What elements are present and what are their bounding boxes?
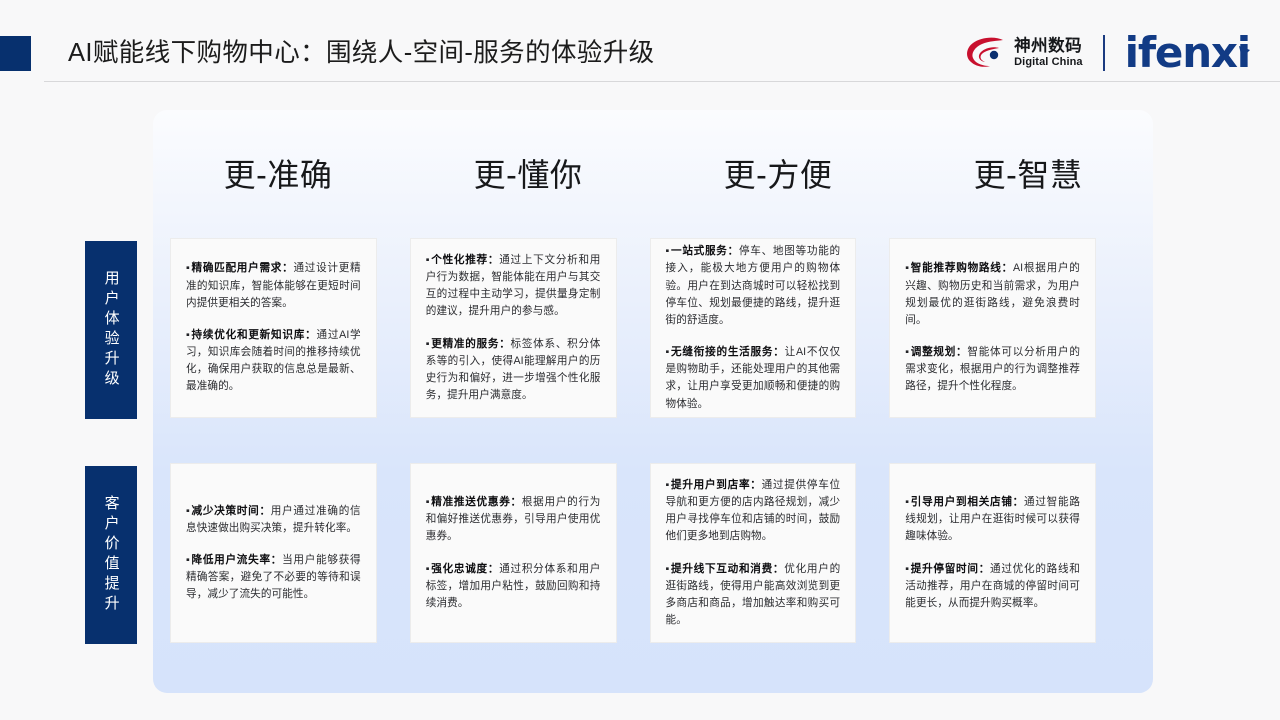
- digital-china-logo: 神州数码 Digital China: [965, 36, 1083, 70]
- logo-group: 神州数码 Digital China ifenxi: [965, 29, 1250, 77]
- bullet-lead: 降低用户流失率：: [192, 554, 283, 566]
- bullet-marker: ▪: [186, 262, 191, 274]
- card-r2c3: ▪提升用户到店率：通过提供停车位导航和更方便的店内路径规划，减少用户寻找停车位和…: [650, 463, 857, 643]
- bullet-lead: 强化忠诚度：: [431, 563, 499, 575]
- bullet-lead: 减少决策时间：: [192, 505, 271, 517]
- bullet-r1c3-2: ▪无缝衔接的生活服务：让AI不仅仅是购物助手，还能处理用户的其他需求，让用户享受…: [666, 344, 841, 413]
- bullet-r2c3-1: ▪提升用户到店率：通过提供停车位导航和更方便的店内路径规划，减少用户寻找停车位和…: [666, 477, 841, 546]
- bullet-r1c2-1: ▪个性化推荐：通过上下文分析和用户行为数据，智能体能在用户与其交互的过程中主动学…: [426, 252, 601, 321]
- bullet-r2c2-2: ▪强化忠诚度：通过积分体系和用户标签，增加用户粘性，鼓励回购和持续消费。: [426, 561, 601, 612]
- bullet-marker: ▪: [426, 496, 431, 508]
- bullet-r1c1-1: ▪精确匹配用户需求：通过设计更精准的知识库，智能体能够在更短时间内提供更相关的答…: [186, 260, 361, 311]
- bullet-lead: 持续优化和更新知识库：: [192, 329, 317, 341]
- bullet-r1c4-1: ▪智能推荐购物路线：AI根据用户的兴趣、购物历史和当前需求，为用户规划最优的逛街…: [905, 260, 1080, 329]
- column-heading-3: 更-方便: [653, 152, 903, 204]
- column-headings: 更-准确 更-懂你 更-方便 更-智慧: [153, 152, 1153, 204]
- bullet-marker: ▪: [186, 329, 191, 341]
- bullet-r2c4-2: ▪提升停留时间：通过优化的路线和活动推荐，用户在商城的停留时间可能更长，从而提升…: [905, 561, 1080, 612]
- row-tab-label-2: 客户价值提升: [102, 495, 119, 615]
- digital-china-name-en: Digital China: [1014, 57, 1083, 68]
- card-r1c2: ▪个性化推荐：通过上下文分析和用户行为数据，智能体能在用户与其交互的过程中主动学…: [410, 238, 617, 418]
- page-header: AI赋能线下购物中心：围绕人-空间-服务的体验升级 神州数码 Digital C…: [0, 0, 1280, 84]
- card-r1c3: ▪一站式服务：停车、地图等功能的接入，能极大地方便用户的购物体验。用户在到达商城…: [650, 238, 857, 418]
- bullet-marker: ▪: [666, 245, 671, 257]
- bullet-r2c1-1: ▪减少决策时间：用户通过准确的信息快速做出购买决策，提升转化率。: [186, 503, 361, 537]
- page-title: AI赋能线下购物中心：围绕人-空间-服务的体验升级: [68, 36, 655, 70]
- ifenxi-wordmark: ifenxi: [1125, 28, 1250, 77]
- card-r1c1: ▪精确匹配用户需求：通过设计更精准的知识库，智能体能够在更短时间内提供更相关的答…: [170, 238, 377, 418]
- card-r2c1: ▪减少决策时间：用户通过准确的信息快速做出购买决策，提升转化率。 ▪降低用户流失…: [170, 463, 377, 643]
- card-row-user-experience: ▪精确匹配用户需求：通过设计更精准的知识库，智能体能够在更短时间内提供更相关的答…: [170, 238, 1096, 418]
- ifenxi-arrow-icon: [1237, 26, 1252, 68]
- bullet-marker: ▪: [426, 563, 431, 575]
- logo-separator: [1103, 35, 1105, 71]
- bullet-marker: ▪: [905, 262, 910, 274]
- bullet-r1c4-2: ▪调整规划：智能体可以分析用户的需求变化，根据用户的行为调整推荐路径，提升个性化…: [905, 344, 1080, 395]
- bullet-lead: 调整规划：: [911, 346, 968, 358]
- column-heading-1: 更-准确: [153, 152, 403, 204]
- row-tab-user-experience: 用户体验升级: [85, 241, 137, 419]
- bullet-marker: ▪: [905, 346, 910, 358]
- bullet-lead: 一站式服务：: [671, 245, 739, 257]
- bullet-lead: 无缝衔接的生活服务：: [671, 346, 785, 358]
- header-divider: [44, 81, 1280, 82]
- bullet-marker: ▪: [666, 346, 671, 358]
- column-heading-2: 更-懂你: [403, 152, 653, 204]
- bullet-lead: 个性化推荐：: [431, 254, 499, 266]
- bullet-lead: 精确匹配用户需求：: [192, 262, 294, 274]
- bullet-marker: ▪: [426, 338, 431, 350]
- digital-china-wordmark: 神州数码 Digital China: [1014, 38, 1083, 69]
- bullet-lead: 提升线下互动和消费：: [671, 563, 784, 575]
- bullet-r2c1-2: ▪降低用户流失率：当用户能够获得精确答案，避免了不必要的等待和误导，减少了流失的…: [186, 552, 361, 603]
- bullet-r1c1-2: ▪持续优化和更新知识库：通过AI学习，知识库会随着时间的推移持续优化，确保用户获…: [186, 327, 361, 396]
- bullet-marker: ▪: [666, 479, 671, 491]
- row-tab-customer-value: 客户价值提升: [85, 466, 137, 644]
- bullet-marker: ▪: [905, 496, 910, 508]
- card-row-customer-value: ▪减少决策时间：用户通过准确的信息快速做出购买决策，提升转化率。 ▪降低用户流失…: [170, 463, 1096, 643]
- digital-china-swoosh-icon: [965, 36, 1007, 70]
- card-r2c4: ▪引导用户到相关店铺：通过智能路线规划，让用户在逛街时候可以获得趣味体验。 ▪提…: [889, 463, 1096, 643]
- card-r1c4: ▪智能推荐购物路线：AI根据用户的兴趣、购物历史和当前需求，为用户规划最优的逛街…: [889, 238, 1096, 418]
- bullet-lead: 提升用户到店率：: [671, 479, 762, 491]
- bullet-r2c2-1: ▪精准推送优惠券：根据用户的行为和偏好推送优惠券，引导用户使用优惠券。: [426, 494, 601, 545]
- bullet-marker: ▪: [666, 563, 671, 575]
- bullet-marker: ▪: [905, 563, 910, 575]
- card-r2c2: ▪精准推送优惠券：根据用户的行为和偏好推送优惠券，引导用户使用优惠券。 ▪强化忠…: [410, 463, 617, 643]
- bullet-r1c2-2: ▪更精准的服务：标签体系、积分体系等的引入，使得AI能理解用户的历史行为和偏好，…: [426, 336, 601, 405]
- column-heading-4: 更-智慧: [903, 152, 1153, 204]
- row-tab-label-1: 用户体验升级: [102, 270, 119, 390]
- header-accent-marker: [0, 36, 31, 71]
- bullet-lead: 提升停留时间：: [911, 563, 990, 575]
- digital-china-name-cn: 神州数码: [1014, 38, 1083, 55]
- bullet-body: 停车、地图等功能的接入，能极大地方便用户的购物体验。用户在到达商城时可以轻松找到…: [666, 245, 841, 326]
- bullet-marker: ▪: [186, 554, 191, 566]
- ifenxi-logo: ifenxi: [1125, 32, 1250, 74]
- bullet-r2c3-2: ▪提升线下互动和消费：优化用户的逛街路线，使得用户能高效浏览到更多商店和商品，增…: [666, 561, 841, 630]
- bullet-marker: ▪: [426, 254, 431, 266]
- bullet-r2c4-1: ▪引导用户到相关店铺：通过智能路线规划，让用户在逛街时候可以获得趣味体验。: [905, 494, 1080, 545]
- bullet-lead: 更精准的服务：: [431, 338, 510, 350]
- bullet-r1c3-1: ▪一站式服务：停车、地图等功能的接入，能极大地方便用户的购物体验。用户在到达商城…: [666, 243, 841, 329]
- bullet-lead: 引导用户到相关店铺：: [911, 496, 1024, 508]
- bullet-marker: ▪: [186, 505, 191, 517]
- bullet-lead: 智能推荐购物路线：: [911, 262, 1013, 274]
- bullet-lead: 精准推送优惠券：: [431, 496, 522, 508]
